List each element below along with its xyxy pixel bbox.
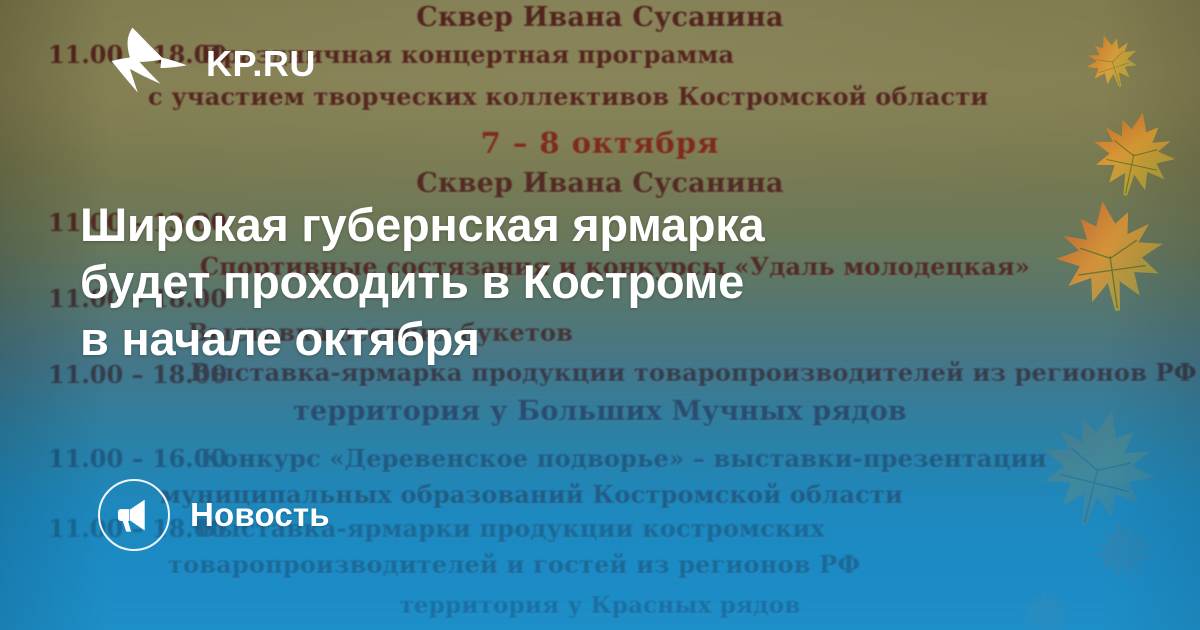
status-badge: Новость [98, 479, 330, 551]
swallow-bird-icon [104, 26, 196, 96]
badge-icon-circle [98, 479, 170, 551]
kpru-logo[interactable]: KP.RU [112, 30, 316, 92]
headline-line-2: будет проходить в Костроме [80, 253, 1090, 310]
kpru-logo-text: KP.RU [206, 46, 316, 82]
headline-line-1: Широкая губернская ярмарка [80, 196, 1090, 253]
megaphone-icon [115, 496, 153, 534]
page-title: Широкая губернская ярмарка будет проходи… [80, 196, 1090, 367]
status-badge-label: Новость [190, 496, 330, 534]
headline-line-3: в начале октября [80, 310, 1090, 367]
news-share-card: Сквер Ивана Сусанина 11.00 – 18.00 Празд… [0, 0, 1200, 630]
